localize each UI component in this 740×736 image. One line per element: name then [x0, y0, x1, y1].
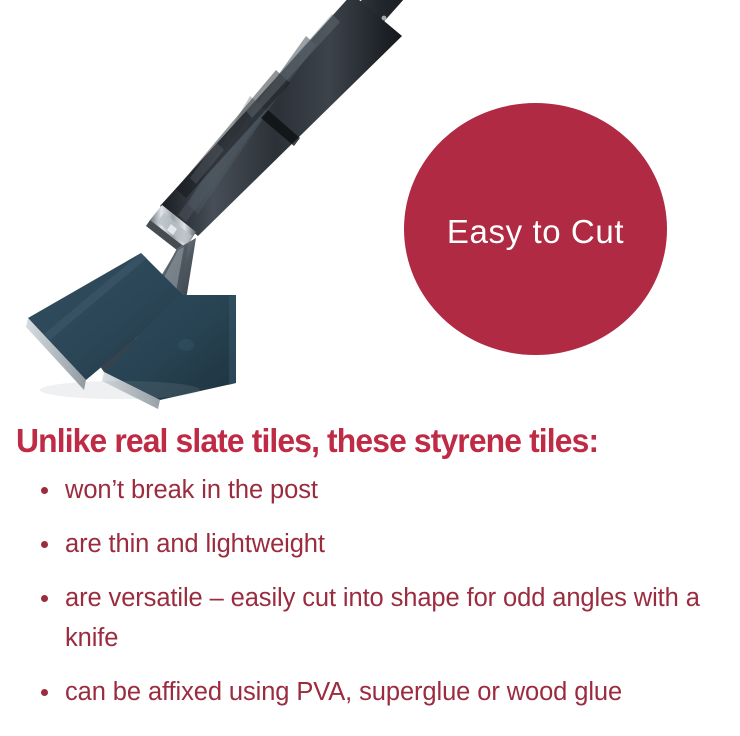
knife-photo-illustration — [0, 0, 430, 410]
promo-graphic: Easy to Cut Unlike real slate tiles, the… — [0, 0, 740, 736]
bullet-dot-icon — [41, 689, 48, 696]
list-item-label: won’t break in the post — [65, 470, 730, 510]
list-item: won’t break in the post — [40, 470, 730, 510]
page-title: Unlike real slate tiles, these styrene t… — [16, 424, 703, 459]
bullet-dot-icon — [41, 595, 48, 602]
badge-label: Easy to Cut — [447, 213, 624, 251]
bullet-dot-icon — [41, 541, 48, 548]
benefits-list: won’t break in the post are thin and lig… — [40, 470, 730, 712]
bullet-dot-icon — [41, 487, 48, 494]
list-item: can be affixed using PVA, superglue or w… — [40, 672, 730, 712]
knife-handle — [160, 0, 430, 236]
list-item-label: are versatile – easily cut into shape fo… — [65, 578, 730, 658]
list-item: are versatile – easily cut into shape fo… — [40, 578, 730, 658]
product-photo — [0, 0, 430, 410]
easy-to-cut-badge: Easy to Cut — [404, 103, 667, 355]
list-item-label: can be affixed using PVA, superglue or w… — [65, 672, 730, 712]
list-item: are thin and lightweight — [40, 524, 730, 564]
list-item-label: are thin and lightweight — [65, 524, 730, 564]
